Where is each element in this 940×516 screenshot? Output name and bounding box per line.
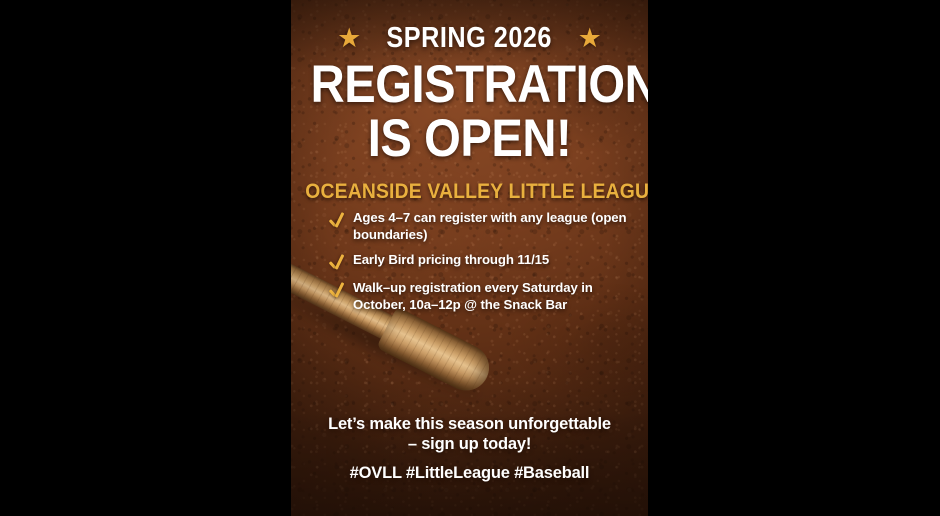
closing-line-1: Let’s make this season unforgettable xyxy=(291,414,648,434)
closing-line-2: – sign up today! xyxy=(291,434,648,454)
headline-line-2: IS OPEN! xyxy=(311,112,629,165)
star-icon: ★ xyxy=(578,25,602,52)
star-icon: ★ xyxy=(337,25,361,52)
hashtags: #OVLL #LittleLeague #Baseball xyxy=(291,464,648,483)
list-item-label: Early Bird pricing through 11/15 xyxy=(353,252,549,269)
list-item-label: Walk–up registration every Saturday in O… xyxy=(353,280,629,313)
eyebrow-row: ★ SPRING 2026 ★ xyxy=(291,22,648,55)
league-name: OCEANSIDE VALLEY LITTLE LEAGUE xyxy=(305,180,633,204)
list-item: Ages 4–7 can register with any league (o… xyxy=(329,210,629,243)
list-item-label: Ages 4–7 can register with any league (o… xyxy=(353,210,629,243)
check-icon xyxy=(329,212,345,229)
check-icon xyxy=(329,282,345,299)
headline-line-1: REGISTRATION xyxy=(311,58,629,111)
benefits-list: Ages 4–7 can register with any league (o… xyxy=(329,210,629,322)
list-item: Early Bird pricing through 11/15 xyxy=(329,252,629,271)
promo-poster: ★ SPRING 2026 ★ REGISTRATION IS OPEN! OC… xyxy=(291,0,648,516)
screenshot-canvas: ★ SPRING 2026 ★ REGISTRATION IS OPEN! OC… xyxy=(0,0,940,516)
check-icon xyxy=(329,254,345,271)
list-item: Walk–up registration every Saturday in O… xyxy=(329,280,629,313)
closing-message: Let’s make this season unforgettable – s… xyxy=(291,414,648,454)
eyebrow-text: SPRING 2026 xyxy=(387,22,553,55)
